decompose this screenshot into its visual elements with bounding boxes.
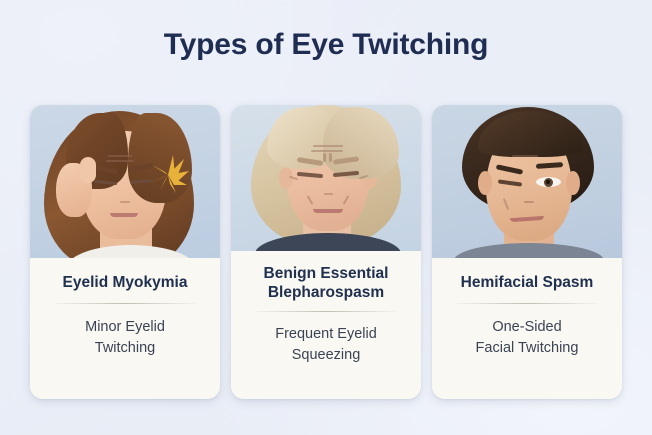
portrait-man-wink — [432, 105, 622, 258]
card-body-benign-essential-blepharospasm: Benign Essential Blepharospasm Frequent … — [231, 251, 421, 399]
card-divider — [54, 303, 196, 304]
card-subtitle-line2: Twitching — [95, 340, 155, 356]
card-subtitle-line1: One-Sided — [492, 319, 561, 335]
card-heading: Hemifacial Spasm — [461, 273, 594, 292]
card-divider — [255, 311, 397, 312]
card-eyelid-myokymia[interactable]: Eyelid Myokymia Minor Eyelid Twitching — [30, 105, 220, 399]
page-title: Types of Eye Twitching — [0, 28, 652, 62]
card-photo-benign-essential-blepharospasm — [231, 105, 421, 251]
card-subtitle-line2: Squeezing — [292, 347, 361, 363]
card-heading-line2: Blepharospasm — [268, 284, 384, 301]
card-body-eyelid-myokymia: Eyelid Myokymia Minor Eyelid Twitching — [30, 258, 220, 399]
card-subtitle: Frequent Eyelid Squeezing — [275, 324, 377, 365]
card-subtitle: Minor Eyelid Twitching — [85, 317, 165, 358]
card-subtitle-line1: Minor Eyelid — [85, 319, 165, 335]
card-body-hemifacial-spasm: Hemifacial Spasm One-Sided Facial Twitch… — [432, 258, 622, 399]
card-photo-hemifacial-spasm — [432, 105, 622, 258]
card-subtitle-line2: Facial Twitching — [476, 340, 579, 356]
portrait-woman-temple — [30, 105, 220, 258]
card-subtitle-line1: Frequent Eyelid — [275, 326, 377, 342]
portrait-older-woman — [231, 105, 421, 251]
card-divider — [456, 303, 598, 304]
card-heading-line1: Benign Essential — [264, 265, 389, 282]
card-heading: Eyelid Myokymia — [63, 273, 188, 292]
infographic-root: Types of Eye Twitching — [0, 0, 652, 435]
card-photo-eyelid-myokymia — [30, 105, 220, 258]
card-benign-essential-blepharospasm[interactable]: Benign Essential Blepharospasm Frequent … — [231, 105, 421, 399]
card-heading: Benign Essential Blepharospasm — [264, 264, 389, 302]
cards-row: Eyelid Myokymia Minor Eyelid Twitching — [30, 105, 622, 399]
card-subtitle: One-Sided Facial Twitching — [476, 317, 579, 358]
card-hemifacial-spasm[interactable]: Hemifacial Spasm One-Sided Facial Twitch… — [432, 105, 622, 399]
spark-icon — [146, 153, 190, 197]
